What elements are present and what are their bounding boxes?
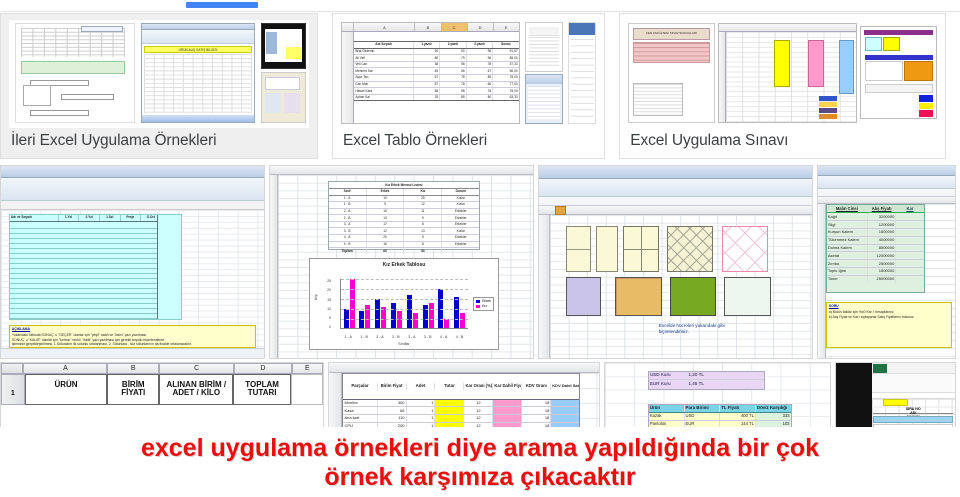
table-row: 2 - A1511Erkekler: [329, 209, 479, 216]
image-result-gender-chart[interactable]: Kız Erkek Mevcut Listesi Sınıf Erkek Kız…: [269, 165, 534, 359]
table-row: Ana kart 110 1 12 18: [343, 415, 579, 423]
instruction-note: AÇIKLAMA Yukarıdaki Tabloda SONUÇ' u "GE…: [9, 325, 256, 348]
grades-table: Adı Soyadı 1.yazılı 2.yazılı 3.yazılı So…: [354, 41, 518, 115]
result-card-excel-tablo[interactable]: A B C D E Adı Soyadı 1.yazılı 2.yazılı 3…: [332, 13, 605, 159]
format-sample-3: [623, 226, 658, 272]
table-row: 1 - B912Kızlar: [329, 202, 479, 209]
thumb-formula-sheet: [525, 22, 563, 72]
table-row: Bilal Özdemir90909591,67: [354, 49, 518, 56]
bar-group: [407, 279, 418, 329]
bar-chart: Kız Erkek Tablosu Kişi 25 20 15 10 5 0: [309, 258, 498, 350]
table-row: Toplu İğne1600000: [827, 268, 924, 276]
table-row: Silgi1200000: [827, 221, 924, 229]
bar-group: [359, 279, 370, 329]
format-sample-5: [722, 226, 768, 272]
bar-group: [454, 279, 465, 329]
table-row: Mehmet Sar45566756,00: [354, 68, 518, 75]
table-row: Zımba2500000: [827, 260, 924, 268]
image-results-row-2: Adı ve Soyadı 1.Yzl 2.Yzl 1.Szl Proje S.…: [0, 165, 960, 359]
table-row: Kasa 65 1 12 18: [343, 407, 579, 415]
format-sample-7: [615, 277, 661, 315]
format-sample-4: [667, 226, 713, 272]
thumb-color-sheet: [860, 26, 937, 119]
thumb-dark-preview: [261, 23, 306, 68]
image-result-cell-formatting[interactable]: Excelde hücreleri yukarıdaki gibi biçiml…: [538, 165, 813, 359]
chart-y-axis-label: Kişi: [314, 294, 318, 300]
highlight-blue: [839, 40, 854, 95]
table-row: Kağıt3200000: [827, 213, 924, 221]
excel-window: Adı ve Soyadı 1.Yzl 2.Yzl 1.Szl Proje S.…: [1, 166, 264, 358]
format-sample-6: [566, 277, 601, 315]
mini-grid: [21, 28, 125, 57]
gender-table: Kız Erkek Mevcut Listesi Sınıf Erkek Kız…: [328, 181, 480, 250]
thumb-sheet-left: [15, 23, 135, 122]
thumb-sheet-edge: [568, 22, 596, 124]
question-note: SORU a) Bütün Mallar için %40 Kar 'ı hes…: [826, 302, 952, 348]
table-row: Kazak USD 400 TL 333: [649, 413, 791, 421]
table-row: Toner25000000: [827, 276, 924, 283]
bar-group: [391, 279, 402, 329]
thumb-parts-sheet: [718, 23, 857, 122]
result-card-ileri-excel[interactable]: ÜRÜN ALIŞ SATIŞ BİLGİSİ İleri Excel Uygu…: [0, 13, 318, 159]
format-sample-8: [670, 277, 716, 315]
thumb-excel-window-small: [525, 74, 563, 124]
active-tab-indicator[interactable]: [186, 2, 258, 8]
excel-window: Excelde hücreleri yukarıdaki gibi biçiml…: [539, 166, 812, 358]
header-divider: [0, 11, 960, 12]
table-row: Veli Can38567857,33: [354, 62, 518, 69]
thumb-3d-charts: [261, 72, 306, 123]
table-row: Can Man87786677,00: [354, 82, 518, 89]
bar-group: [344, 279, 355, 329]
card-thumbnail: A B C D E Adı Soyadı 1.yazılı 2.yazılı 3…: [341, 20, 596, 128]
highlight-yellow: [774, 40, 790, 87]
table-row: 3 - A178Erkekler: [329, 222, 479, 229]
search-results-page: ÜRÜN ALIŞ SATIŞ BİLGİSİ İleri Excel Uygu…: [0, 0, 960, 497]
format-sample-2: [596, 226, 618, 272]
grades-table-preview: A B C D E Adı Soyadı 1.yazılı 2.yazılı 3…: [341, 22, 520, 124]
image-result-grades-worksheet[interactable]: Adı ve Soyadı 1.Yzl 2.Yzl 1.Szl Proje S.…: [0, 165, 265, 359]
excel-window: Malın Cinsi Alış Fiyatı Kar Kağıt3200000…: [818, 166, 955, 358]
table-row: Hasan Kara58987878,00: [354, 88, 518, 95]
instruction-text: Excelde hücreleri yukarıdaki gibi biçiml…: [659, 323, 801, 346]
table-header-row: Adı Soyadı 1.yazılı 2.yazılı 3.yazılı So…: [354, 41, 518, 49]
data-range-highlight: Adı ve Soyadı 1.Yzl 2.Yzl 1.Szl Proje S.…: [9, 214, 182, 320]
excel-sheet: Kız Erkek Mevcut Listesi Sınıf Erkek Kız…: [270, 166, 533, 358]
profit-table: Malın Cinsi Alış Fiyatı Kar Kağıt3200000…: [826, 204, 925, 292]
chart-y-ticks: 25 20 15 10 5 0: [327, 279, 331, 330]
card-thumbnail: FEN FAKÜLTESİ SINAV SONUÇLARI: [628, 20, 937, 128]
card-title: Excel Tablo Örnekleri: [333, 128, 604, 158]
column-letters-row: A B C D E: [1, 363, 323, 374]
card-thumbnail: ÜRÜN ALIŞ SATIŞ BİLGİSİ: [9, 20, 309, 128]
card-title: Excel Uygulama Sınavı: [620, 128, 945, 158]
image-result-profit-worksheet[interactable]: Malın Cinsi Alış Fiyatı Kar Kağıt3200000…: [817, 165, 956, 359]
table-row: 3 - B1213Kızlar: [329, 228, 479, 235]
chart-title: Kız Erkek Tablosu: [310, 262, 497, 268]
thumb-exam-doc: FEN FAKÜLTESİ SINAV SONUÇLARI: [628, 23, 714, 122]
caption-line-1: excel uygulama örnekleri diye arama yapı…: [141, 434, 819, 462]
table-row: Tükenmez Kalem4000000: [827, 237, 924, 245]
table-row: EUR Kuru 1,45 TL: [649, 380, 764, 388]
table-row: 2 - B139Erkekler: [329, 215, 479, 222]
table-row: Ali Veli80799685,00: [354, 55, 518, 62]
table-row: 1 - A1025Kızlar: [329, 196, 479, 203]
thumb-excel-window: ÜRÜN ALIŞ SATIŞ BİLGİSİ: [141, 23, 255, 122]
table-row: Asetat12000000: [827, 252, 924, 260]
chart-plot-area: [340, 279, 467, 330]
table-row: Monitor 300 1 12 18: [343, 400, 579, 408]
card-title: İleri Excel Uygulama Örnekleri: [1, 128, 317, 158]
bar-group: [438, 279, 449, 329]
table-row: Kurşun Kalem1500000: [827, 229, 924, 237]
exchange-rates-table: USD Kuru 1,20 TL EUR Kuru 1,45 TL: [648, 371, 765, 390]
chart-x-axis-label: Sınıflar: [310, 342, 497, 346]
caption-overlay: excel uygulama örnekleri diye arama yapı…: [0, 427, 960, 497]
table-row: Toplam6050: [329, 248, 479, 254]
table-row: 4 - A205Erkekler: [329, 235, 479, 242]
bar-group: [375, 279, 386, 329]
table-row: USD Kuru 1,20 TL: [649, 372, 764, 381]
format-sample-1: [566, 226, 591, 272]
result-card-excel-sinavi[interactable]: FEN FAKÜLTESİ SINAV SONUÇLARI: [619, 13, 946, 159]
chart-legend: Erkek Kız: [473, 297, 494, 311]
bar-group: [423, 279, 434, 329]
caption-line-2: örnek karşımıza çıkacaktır: [324, 463, 635, 491]
format-sample-9: [724, 277, 770, 315]
chart-x-ticks: 1 - A 1 - B 2 - A 2 - B 3 - A 3 - B 4 - …: [340, 335, 467, 339]
table-row: Ayşe Tan67788978,00: [354, 75, 518, 82]
header-cells-row: 1 ÜRÜN BİRİM FİYATI ALINAN BİRİM / ADET …: [1, 374, 323, 405]
knowledge-cards-row: ÜRÜN ALIŞ SATIŞ BİLGİSİ İleri Excel Uygu…: [0, 13, 960, 161]
highlight-pink: [808, 40, 824, 87]
table-row: Ayhan Kal25858063,33: [354, 95, 518, 102]
table-row: 4 - B168Erkekler: [329, 242, 479, 249]
table-row: Dolma Kalem8500000: [827, 245, 924, 253]
sheet-heading: ÜRÜN ALIŞ SATIŞ BİLGİSİ: [144, 46, 252, 54]
